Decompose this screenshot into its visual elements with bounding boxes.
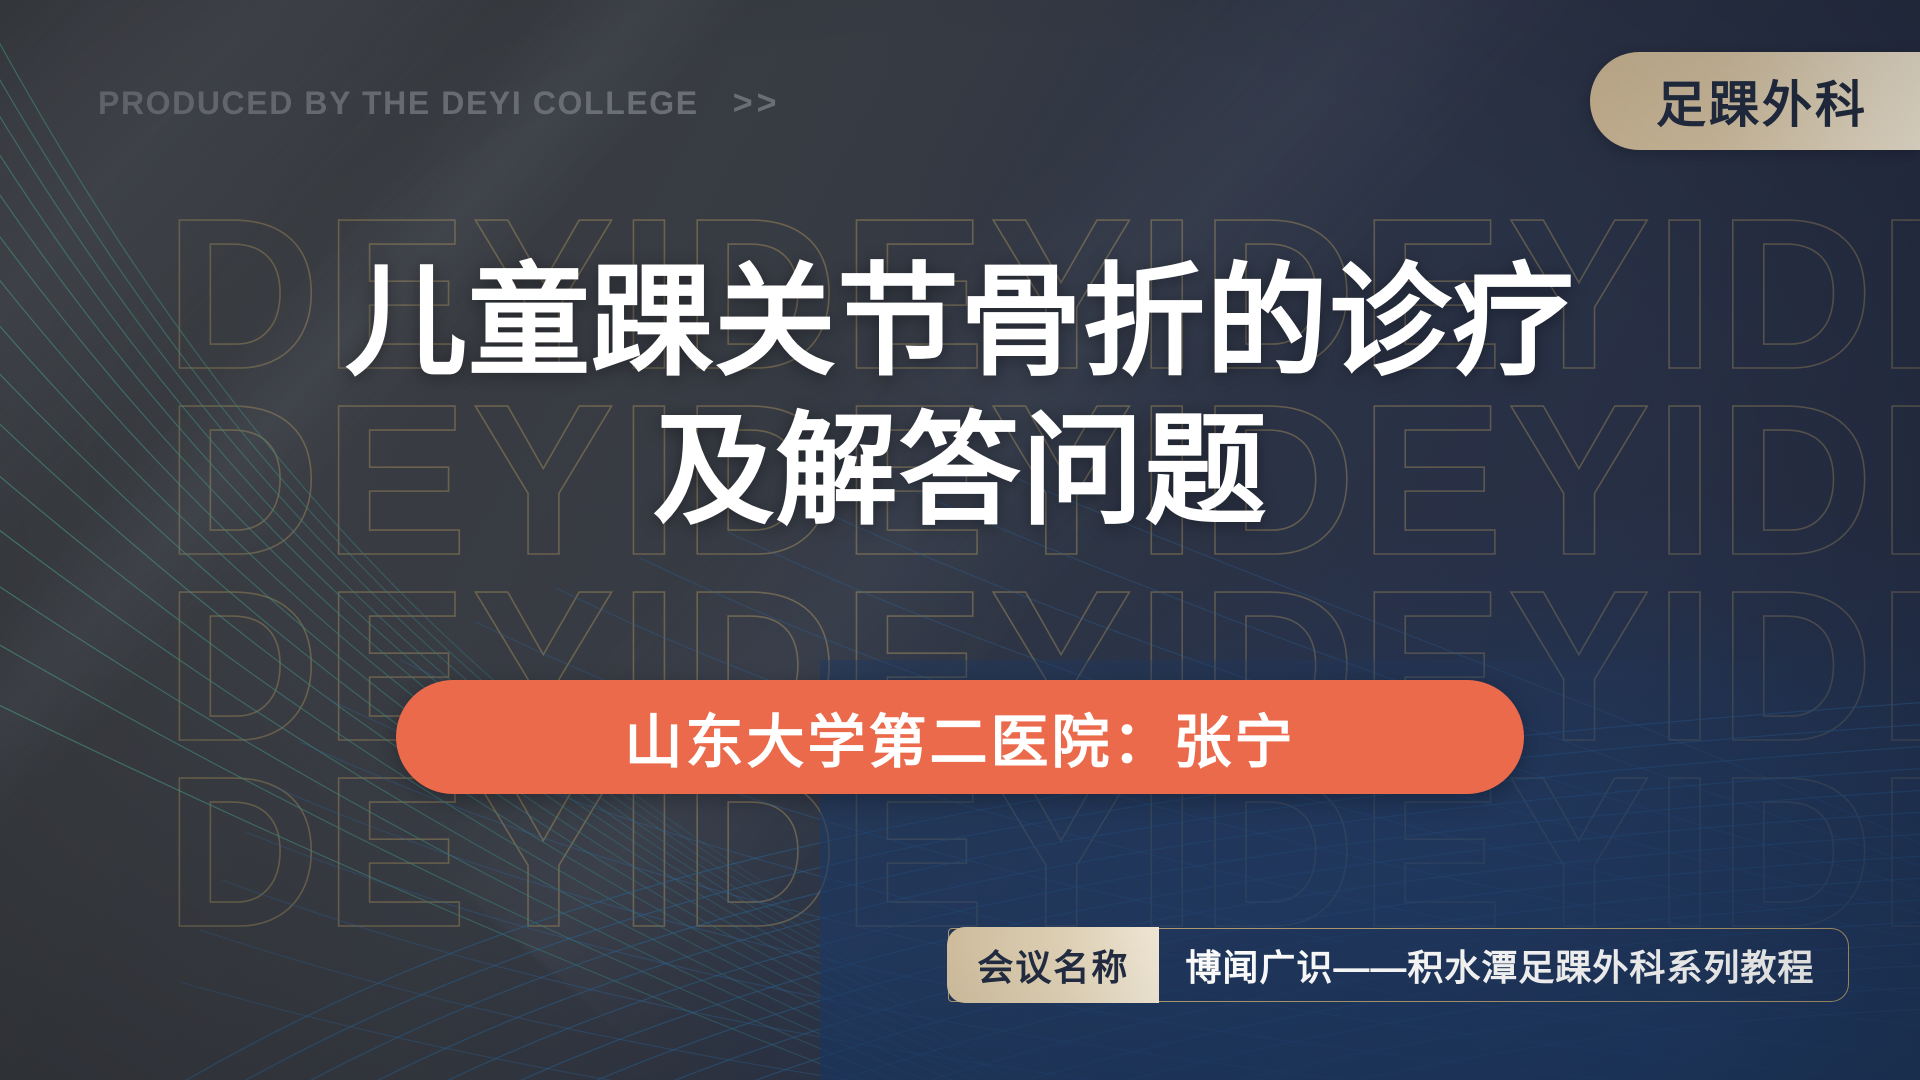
slide-canvas: DEYIDEYIDEYIDEYI DEYIDEYIDEYIDEYI DEYIDE…	[0, 0, 1920, 1080]
vignette-overlay	[0, 0, 1920, 1080]
